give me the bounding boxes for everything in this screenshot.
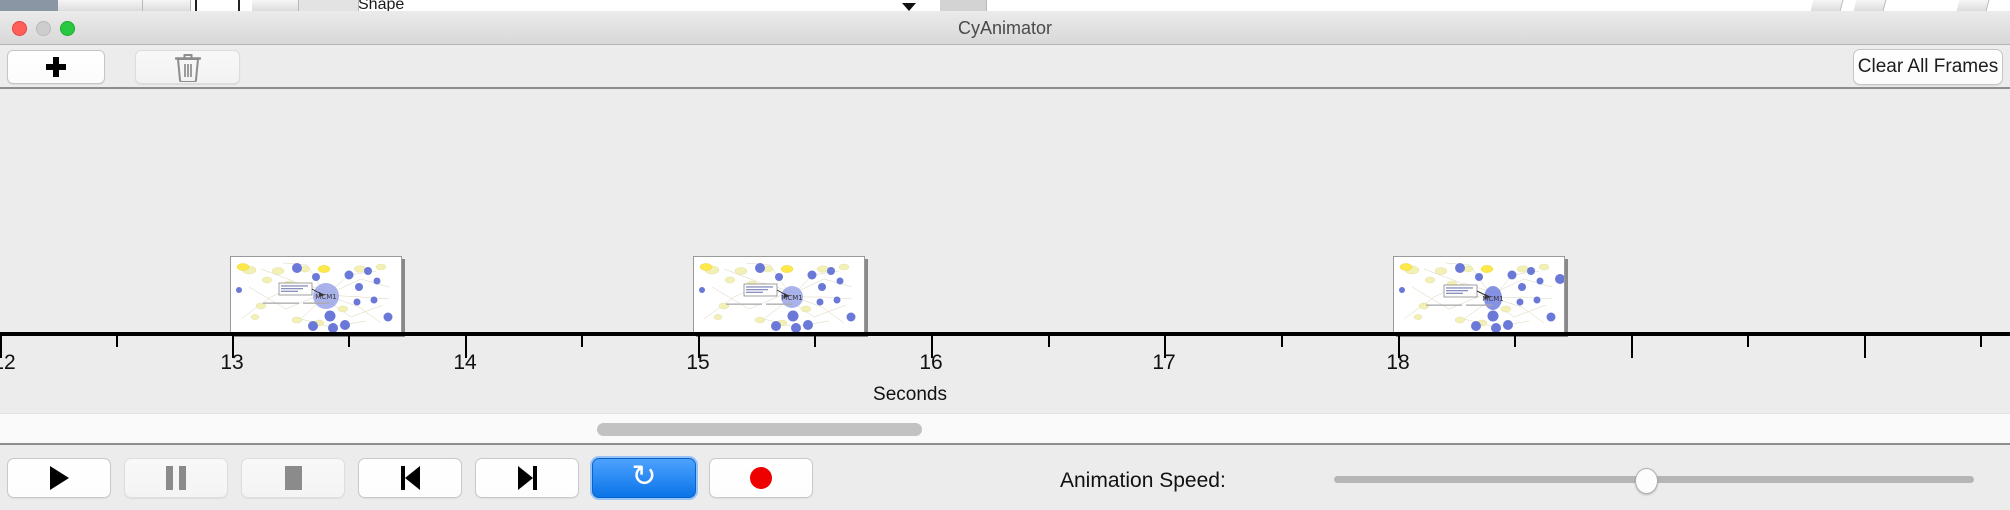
axis-tick — [1631, 336, 1633, 358]
axis-tick-label: 17 — [1152, 351, 1175, 375]
skip-previous-icon — [401, 466, 420, 490]
background-tab — [1957, 0, 1990, 11]
svg-text:MCM1: MCM1 — [315, 293, 336, 301]
scrollbar-thumb[interactable] — [597, 423, 922, 436]
stop-button[interactable] — [241, 458, 345, 498]
animation-speed-knob[interactable] — [1635, 468, 1658, 494]
record-icon — [750, 467, 772, 489]
window-title: CyAnimator — [0, 18, 2010, 39]
background-tab — [1811, 0, 1844, 11]
background-app-strip: Shape — [0, 0, 2010, 11]
clear-all-frames-button[interactable]: Clear All Frames — [1853, 49, 2003, 85]
background-tab — [299, 0, 359, 11]
play-button[interactable] — [7, 458, 111, 498]
axis-tick-minor — [116, 336, 118, 347]
axis-tick-minor — [1980, 336, 1982, 347]
background-tab — [1854, 0, 1887, 11]
background-tab — [252, 0, 299, 11]
stop-icon — [285, 466, 302, 490]
background-tab — [143, 0, 191, 11]
axis-tick-minor — [1747, 336, 1749, 347]
play-icon — [50, 466, 69, 490]
record-button[interactable] — [709, 458, 813, 498]
axis-tick-label: 14 — [453, 351, 476, 375]
background-cursor-icon — [902, 3, 916, 11]
timeline-panel[interactable]: MCM1 — [0, 89, 2010, 413]
axis-tick-minor — [1048, 336, 1050, 347]
axis-tick-label: 12 — [0, 351, 16, 375]
pause-icon — [166, 466, 186, 490]
skip-end-button[interactable] — [475, 458, 579, 498]
background-tab — [58, 0, 143, 11]
svg-text:MCM1: MCM1 — [781, 294, 802, 302]
axis-tick-minor — [814, 336, 816, 347]
keyframe-thumbnail[interactable]: MCM1 — [693, 256, 865, 334]
svg-text:MCM1: MCM1 — [1482, 295, 1503, 303]
axis-tick-label: 15 — [686, 351, 709, 375]
timeline-scrollbar[interactable] — [0, 413, 2010, 443]
background-tab — [940, 0, 987, 11]
axis-tick — [1864, 336, 1866, 358]
axis-tick-minor — [348, 336, 350, 347]
title-bar: CyAnimator — [0, 11, 2010, 45]
timeline-axis — [0, 332, 2010, 336]
axis-tick-label: 16 — [919, 351, 942, 375]
background-selected-tab — [0, 0, 58, 11]
skip-next-icon — [518, 466, 537, 490]
background-app-label: Shape — [358, 0, 404, 11]
background-tick — [195, 0, 197, 11]
loop-button[interactable]: ↻ — [592, 458, 696, 498]
delete-frame-button[interactable] — [135, 50, 240, 84]
clear-all-frames-label: Clear All Frames — [1858, 56, 1998, 78]
axis-title-label: Seconds — [873, 384, 947, 405]
add-frame-button[interactable] — [7, 50, 105, 84]
cyanimator-window: Shape CyAnimator — [0, 0, 2010, 510]
trash-icon — [175, 52, 201, 82]
animation-speed-label: Animation Speed: — [1060, 469, 1226, 493]
loop-icon: ↻ — [631, 462, 656, 492]
toolbar: Clear All Frames — [0, 45, 2010, 89]
keyframe-thumbnail[interactable]: MCM1 — [1393, 256, 1565, 334]
skip-start-button[interactable] — [358, 458, 462, 498]
pause-button[interactable] — [124, 458, 228, 498]
axis-title: Seconds — [0, 384, 2010, 406]
axis-tick-label: 18 — [1386, 351, 1409, 375]
axis-tick-minor — [581, 336, 583, 347]
axis-tick-label: 13 — [220, 351, 243, 375]
axis-tick-minor — [1281, 336, 1283, 347]
keyframe-thumbnail[interactable]: MCM1 — [230, 256, 402, 334]
plus-icon — [46, 57, 66, 77]
background-tick — [238, 0, 240, 11]
axis-tick-minor — [1514, 336, 1516, 347]
transport-bar: ↻ Animation Speed: — [0, 443, 2010, 510]
